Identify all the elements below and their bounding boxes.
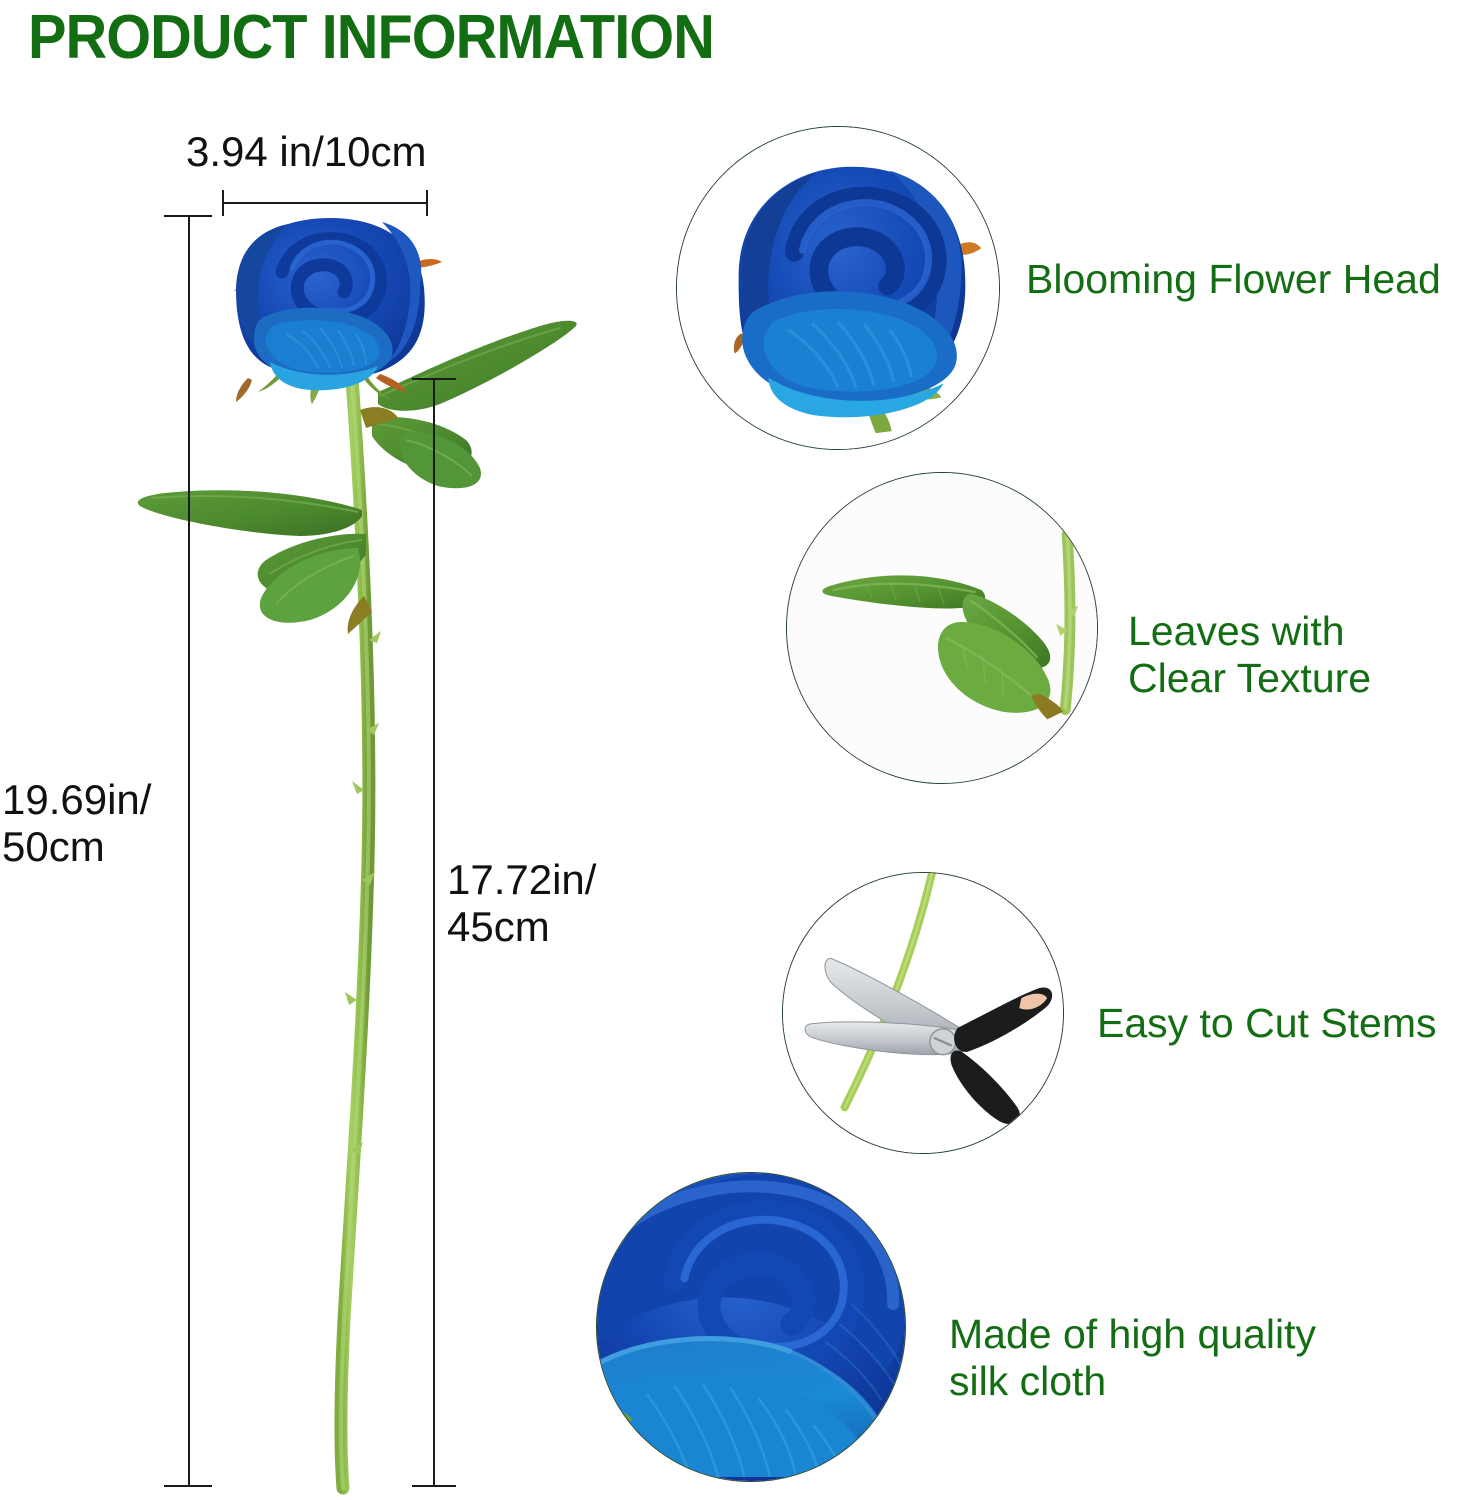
flower-head-detail-image <box>677 127 999 449</box>
lower-leaf-group <box>138 490 372 634</box>
width-dimension-cap-right <box>426 190 428 216</box>
product-illustration <box>0 0 660 1500</box>
feature-label-high-quality-silk: Made of high quality silk cloth <box>949 1311 1316 1405</box>
silk-cloth-detail-image <box>597 1173 905 1481</box>
feature-label-easy-to-cut-stems: Easy to Cut Stems <box>1097 1000 1437 1047</box>
silk-cloth-detail-circle <box>596 1172 906 1482</box>
total-height-dimension-label: 19.69in/ 50cm <box>2 776 151 870</box>
feature-label-leaves-clear-texture: Leaves with Clear Texture <box>1128 608 1371 702</box>
scissors-detail-image <box>783 873 1063 1153</box>
scissors-detail-circle <box>782 872 1064 1154</box>
leaves-detail-circle <box>786 472 1098 784</box>
stem-height-dimension-line <box>433 378 435 1487</box>
product-flower-head <box>236 218 425 390</box>
stem-height-cap-bottom <box>412 1485 456 1487</box>
leaves-detail-image <box>787 473 1097 783</box>
stem-height-dimension-label: 17.72in/ 45cm <box>447 856 596 950</box>
width-dimension-line <box>222 202 428 204</box>
flower-head-detail-circle <box>676 126 1000 450</box>
total-height-cap-bottom <box>164 1485 212 1487</box>
width-dimension-cap-left <box>222 190 224 216</box>
total-height-cap-top <box>164 215 212 217</box>
width-dimension-label: 3.94 in/10cm <box>186 128 426 175</box>
stem-height-cap-top <box>412 378 456 380</box>
total-height-dimension-line <box>188 215 190 1487</box>
feature-label-blooming-flower-head: Blooming Flower Head <box>1026 256 1441 303</box>
